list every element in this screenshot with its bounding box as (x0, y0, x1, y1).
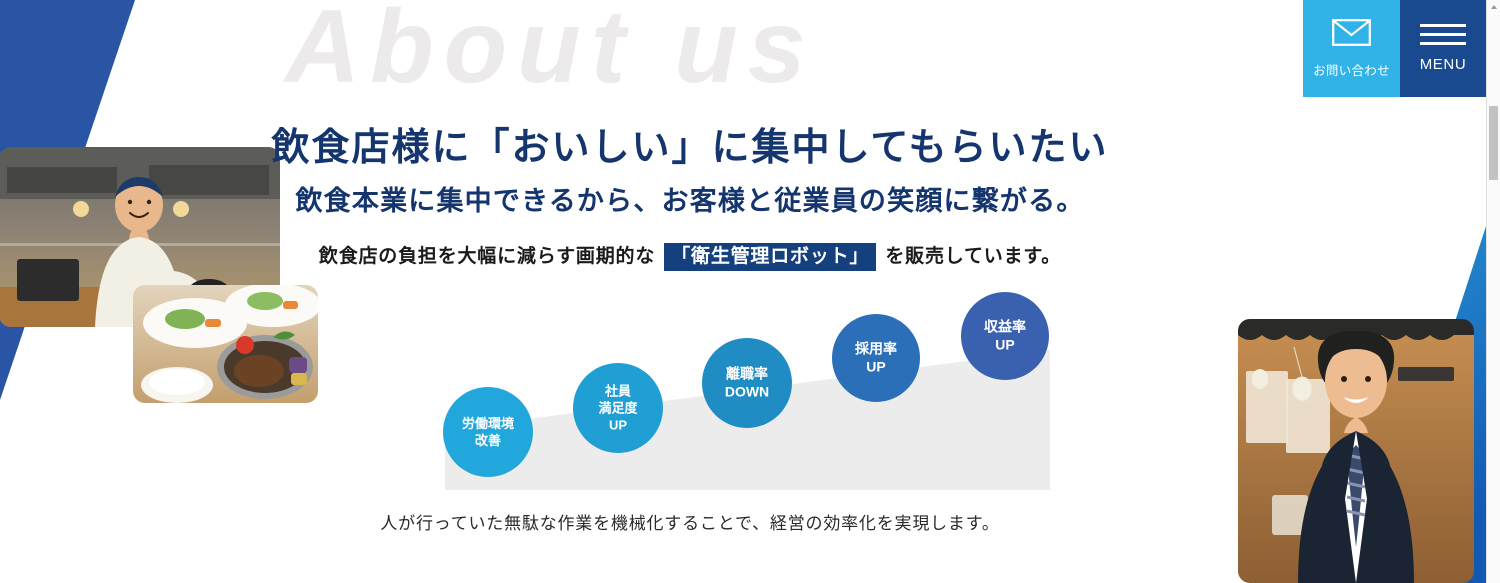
lead-text-before: 飲食店の負担を大幅に減らす画期的な (319, 246, 655, 267)
section-watermark: About us (285, 0, 816, 107)
step-employee-satisfaction-circle (573, 363, 663, 453)
page-title: 飲食店様に「おいしい」に集中してもらいたい (0, 116, 1500, 171)
page-root: About us (0, 0, 1500, 583)
step-hiring-rate-circle (832, 314, 920, 402)
benefits-step-diagram: 労働環境改善社員満足度UP離職率DOWN採用率UP収益率UP (440, 288, 1060, 498)
restaurant-dish-photo (133, 285, 318, 403)
scrollbar-thumb[interactable] (1489, 106, 1498, 180)
lead-highlight-badge: 「衛生管理ロボット」 (664, 243, 876, 271)
diagram-ramp (440, 288, 1060, 498)
page-scrollbar[interactable] (1486, 0, 1500, 583)
page-subtitle: 飲食本業に集中できるから、お客様と従業員の笑顔に繋がる。 (0, 179, 1500, 218)
step-labor-environment-circle (443, 387, 533, 477)
hamburger-icon (1420, 24, 1466, 45)
lead-paragraph: 飲食店の負担を大幅に減らす画期的な 「衛生管理ロボット」 を販売しています。 (0, 241, 1500, 268)
menu-button-label: MENU (1420, 56, 1467, 73)
top-right-action-bar: お問い合わせ MENU (1303, 0, 1486, 97)
diagram-caption: 人が行っていた無駄な作業を機械化することで、経営の効率化を実現します。 (0, 509, 1500, 534)
contact-button[interactable]: お問い合わせ (1303, 0, 1400, 97)
envelope-icon (1332, 19, 1371, 51)
contact-button-label: お問い合わせ (1313, 60, 1390, 79)
scroll-up-arrow-icon[interactable] (1487, 0, 1500, 14)
lead-text-after: を販売しています。 (885, 246, 1061, 267)
step-turnover-rate-circle (702, 338, 792, 428)
businessman-portrait-photo (1238, 319, 1474, 583)
menu-button[interactable]: MENU (1400, 0, 1486, 97)
step-profit-rate-circle (961, 292, 1049, 380)
